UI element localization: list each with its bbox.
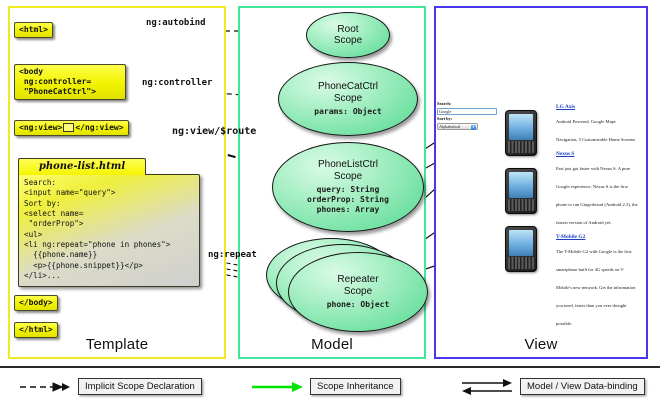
phone-thumbnail — [505, 226, 537, 272]
double-arrow-icon — [460, 379, 514, 395]
scope-repeater-name: Repeater Scope — [337, 274, 378, 296]
legend-label-implicit: Implicit Scope Declaration — [78, 378, 202, 395]
phone-name-link[interactable]: LG Axis — [556, 104, 638, 110]
tag-ngview-open: <ng:view> — [19, 123, 62, 132]
tag-html-close: </html> — [14, 322, 58, 338]
ngview-placeholder-icon — [63, 123, 74, 132]
view-search-label: Search: — [437, 101, 499, 108]
tag-ngview-close: </ng:view> — [75, 123, 123, 132]
tag-ngview: <ng:view></ng:view> — [14, 120, 129, 136]
scope-phonecatctrl: PhoneCatCtrl Scope params: Object — [278, 62, 418, 136]
legend-item-databinding: Model / View Data-binding — [460, 378, 645, 395]
list-item: Nexus S Fast just got faster with Nexus … — [556, 151, 638, 229]
view-search-form: Search: Google Sort by: Alphabetical ▾ — [437, 101, 499, 130]
phone-keyboard — [508, 257, 534, 269]
connector-label-controller: ng:controller — [142, 78, 212, 88]
scope-root: Root Scope — [306, 12, 390, 58]
panel-view-label: View — [436, 336, 646, 353]
view-search-input[interactable]: Google — [437, 108, 497, 115]
tag-body-open: <body ng:controller= "PhoneCatCtrl"> — [14, 64, 126, 100]
diagram-canvas: Template <html> <body ng:controller= "Ph… — [0, 0, 660, 405]
list-item: LG Axis Android Powered, Google Maps Nav… — [556, 104, 638, 146]
phone-snippet: The T-Mobile G2 with Google is the first… — [556, 249, 635, 326]
list-item: T-Mobile G2 The T-Mobile G2 with Google … — [556, 234, 638, 330]
dashed-arrow-icon — [18, 381, 72, 393]
phone-name-link[interactable]: Nexus S — [556, 151, 638, 157]
scope-phonelistctrl: PhoneListCtrl Scope query: String orderP… — [272, 142, 424, 232]
connector-label-route: ng:view/$route — [172, 126, 256, 137]
scope-repeater-stack: Repeater Scope phone: Object — [266, 238, 426, 330]
phone-screen — [509, 114, 533, 140]
scope-root-name: Root Scope — [334, 24, 362, 46]
connector-label-repeat: ng:repeat — [208, 250, 257, 260]
view-sort-select[interactable]: Alphabetical ▾ — [437, 123, 478, 130]
tag-body-close: </body> — [14, 295, 58, 311]
view-phone-list: LG Axis Android Powered, Google Maps Nav… — [556, 104, 638, 335]
tag-html-open: <html> — [14, 22, 53, 38]
legend-item-inheritance: Scope Inheritance — [250, 378, 401, 395]
scope-phonecatctrl-props: params: Object — [314, 107, 381, 117]
phone-screen — [509, 230, 533, 256]
phone-thumbnail — [505, 168, 537, 214]
scope-phonelistctrl-props: query: String orderProp: String phones: … — [307, 185, 389, 215]
file-note-title: phone-list.html — [18, 158, 146, 175]
chevron-down-icon: ▾ — [471, 125, 476, 131]
view-sort-value: Alphabetical — [439, 124, 460, 129]
connector-label-autobind: ng:autobind — [146, 18, 206, 28]
file-note-phone-list: phone-list.html Search: <input name="que… — [18, 158, 200, 288]
scope-phonelistctrl-name: PhoneListCtrl Scope — [318, 159, 378, 181]
panel-model-label: Model — [240, 336, 424, 353]
scope-phonecatctrl-name: PhoneCatCtrl Scope — [318, 81, 378, 103]
phone-screen — [509, 172, 533, 198]
legend-label-inheritance: Scope Inheritance — [310, 378, 401, 395]
legend-label-databinding: Model / View Data-binding — [520, 378, 645, 395]
phone-keyboard — [508, 141, 534, 153]
phone-snippet: Android Powered, Google Maps Navigation,… — [556, 119, 635, 142]
panel-template-label: Template — [10, 336, 224, 353]
green-arrow-icon — [250, 381, 304, 393]
phone-thumbnail — [505, 110, 537, 156]
phone-keyboard — [508, 199, 534, 211]
phone-snippet: Fast just got faster with Nexus S. A pur… — [556, 166, 638, 225]
legend-item-implicit: Implicit Scope Declaration — [18, 378, 202, 395]
scope-repeater-props: phone: Object — [327, 300, 390, 310]
file-note-code: Search: <input name="query"> Sort by: <s… — [18, 174, 200, 287]
phone-name-link[interactable]: T-Mobile G2 — [556, 234, 638, 240]
view-sort-label: Sort by: — [437, 116, 499, 123]
legend: Implicit Scope Declaration Scope Inherit… — [0, 366, 660, 407]
scope-repeater: Repeater Scope phone: Object — [288, 252, 428, 332]
